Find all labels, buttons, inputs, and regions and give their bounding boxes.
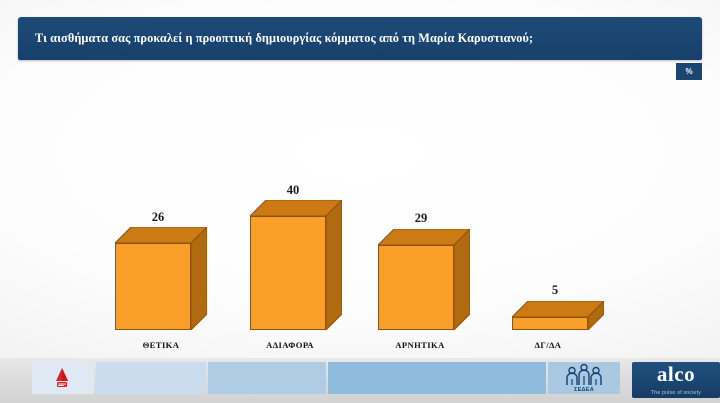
slide-title-bar: Τι αισθήματα σας προκαλεί η προοπτική δη… (18, 17, 702, 60)
alco-logo-tagline: The pulse of society (632, 390, 720, 396)
category-label-0: ΘΕΤΙΚΑ (105, 340, 217, 350)
bar-shape-1 (250, 200, 342, 330)
sedea-people-icon (556, 363, 612, 387)
category-label-2: ΑΡΝΗΤΙΚΑ (355, 340, 485, 350)
category-label-3: ΔΓ/ΔΑ (492, 340, 604, 350)
slide-root: Τι αισθήματα σας προκαλεί η προοπτική δη… (0, 0, 720, 403)
footer-block-2 (208, 362, 326, 394)
page-title: Τι αισθήματα σας προκαλεί η προοπτική δη… (18, 31, 545, 46)
bar-shape-2 (378, 229, 470, 330)
bar-shape-3 (512, 301, 604, 330)
sedea-logo-label: ΣΕΔΕΑ (556, 387, 612, 393)
footer-color-strip: ΣΕΔΕΑ (0, 362, 720, 394)
alco-logo-name: alco (632, 363, 720, 385)
slide-footer: ΣΕΔΕΑ alco The pulse of society (0, 358, 720, 403)
bar-3d-2 (378, 229, 470, 330)
bar-3d-3 (512, 301, 604, 330)
bar-value-label-3: 5 (509, 283, 601, 298)
bar-value-label-2: 29 (375, 211, 467, 226)
bar-3d-1 (250, 200, 342, 330)
footer-block-3 (328, 362, 546, 394)
footer-block-1 (96, 362, 206, 394)
alco-logo: alco The pulse of society (632, 362, 720, 398)
footer-block-0 (32, 362, 94, 394)
bar-shape-0 (115, 227, 207, 330)
bar-3d-0 (115, 227, 207, 330)
sedea-logo: ΣΕΔΕΑ (556, 363, 612, 393)
footer-block-4: ΣΕΔΕΑ (548, 362, 620, 394)
percent-unit-badge: % (676, 63, 702, 80)
bar-value-label-1: 40 (247, 183, 339, 198)
red-brand-icon (50, 366, 74, 390)
bar-value-label-0: 26 (112, 210, 204, 225)
category-label-1: ΑΔΙΑΦΟΡΑ (225, 340, 355, 350)
chart-plot-area: 26 40 (0, 86, 720, 358)
